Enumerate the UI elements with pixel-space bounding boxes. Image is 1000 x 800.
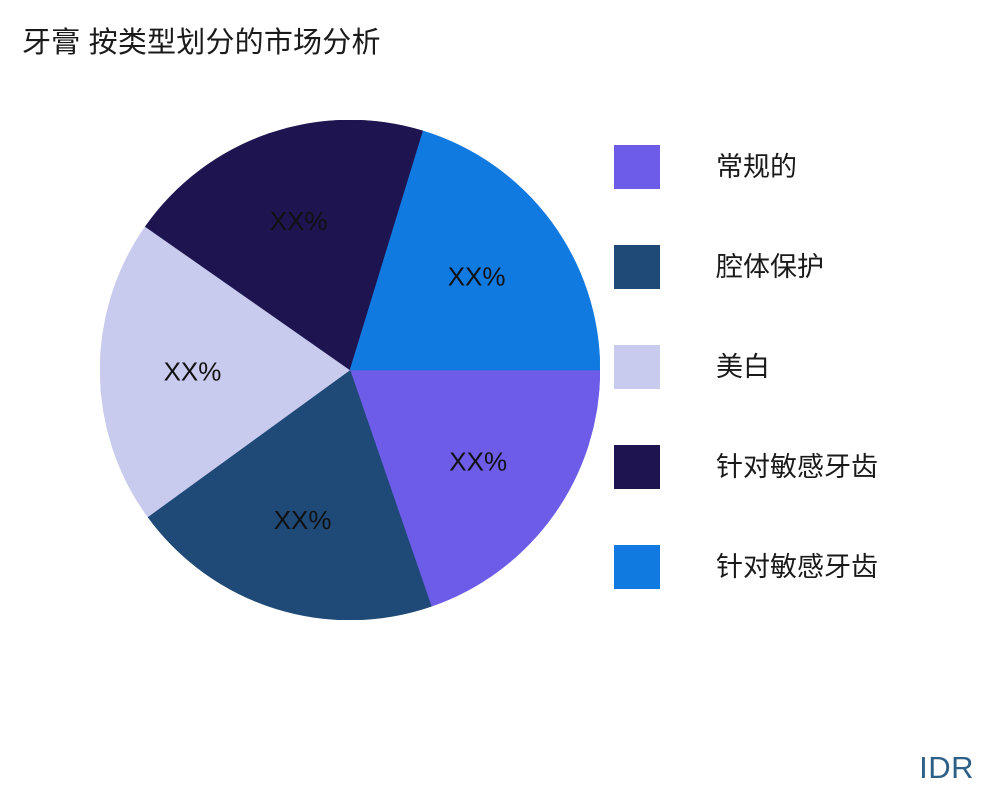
legend-color-swatch [614, 545, 660, 589]
legend-item[interactable]: 针对敏感牙齿 [614, 417, 944, 517]
legend-color-swatch [614, 445, 660, 489]
pie-chart-svg: XX%XX%XX%XX%XX% [100, 120, 600, 620]
legend-item-label: 针对敏感牙齿 [716, 552, 878, 582]
legend-item[interactable]: 常规的 [614, 117, 944, 217]
legend-color-swatch [614, 245, 660, 289]
pie-slice-label: XX% [448, 261, 506, 291]
legend-item-label: 美白 [716, 352, 770, 382]
pie-slice-label: XX% [164, 356, 222, 386]
legend-item-label: 腔体保护 [716, 252, 824, 282]
legend-item-label: 常规的 [716, 152, 797, 182]
legend-item[interactable]: 腔体保护 [614, 217, 944, 317]
idr-watermark: IDR [919, 750, 974, 786]
pie-slice-label: XX% [449, 447, 507, 477]
pie-chart: XX%XX%XX%XX%XX% [100, 120, 600, 620]
pie-slice-label: XX% [270, 206, 328, 236]
slide-canvas: 牙膏 按类型划分的市场分析 XX%XX%XX%XX%XX% 常规的腔体保护美白针… [0, 0, 1000, 800]
page-title: 牙膏 按类型划分的市场分析 [22, 24, 381, 62]
legend-item[interactable]: 美白 [614, 317, 944, 417]
legend-color-swatch [614, 345, 660, 389]
legend-color-swatch [614, 145, 660, 189]
chart-legend: 常规的腔体保护美白针对敏感牙齿针对敏感牙齿 [614, 117, 944, 617]
legend-item-label: 针对敏感牙齿 [716, 452, 878, 482]
legend-item[interactable]: 针对敏感牙齿 [614, 517, 944, 617]
pie-slice-label: XX% [274, 505, 332, 535]
